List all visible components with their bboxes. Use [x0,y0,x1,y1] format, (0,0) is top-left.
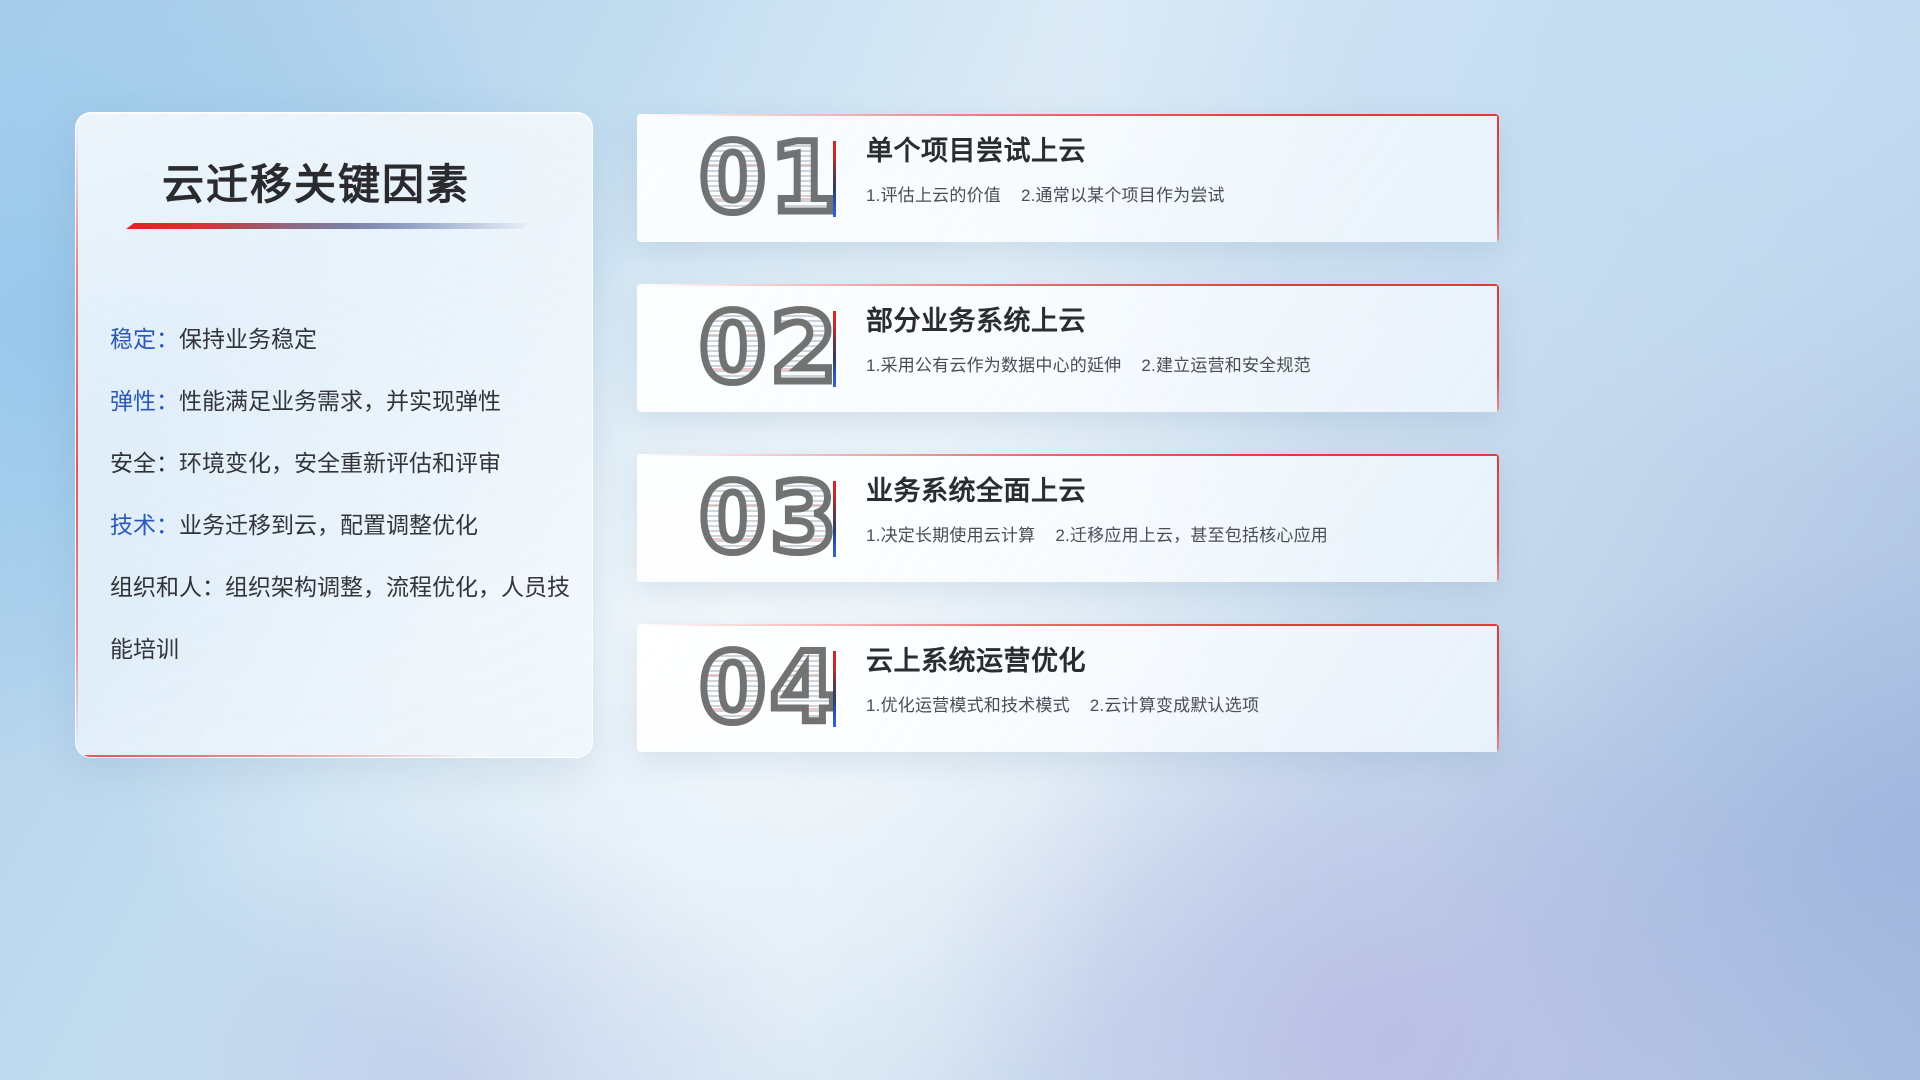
factor-label: 技术： [110,512,179,538]
stage-description-part-2: 2.通常以某个项目作为尝试 [1021,186,1225,205]
stage-card-body: 部分业务系统上云 1.采用公有云作为数据中心的延伸2.建立运营和安全规范 [866,306,1475,376]
stage-card-04[interactable]: 04 云上系统运营优化 1.优化运营模式和技术模式2.云计算变成默认选项 [637,624,1499,752]
stage-description-part-1: 1.评估上云的价值 [866,186,1001,205]
stage-card-body: 单个项目尝试上云 1.评估上云的价值2.通常以某个项目作为尝试 [866,136,1475,206]
list-item: 组织和人：组织架构调整，流程优化，人员技能培训 [110,556,580,680]
stage-card-body: 业务系统全面上云 1.决定长期使用云计算2.迁移应用上云，甚至包括核心应用 [866,476,1475,546]
stage-description-part-1: 1.采用公有云作为数据中心的延伸 [866,356,1121,375]
key-factors-panel: 云迁移关键因素 稳定：保持业务稳定 弹性：性能满足业务需求，并实现弹性 安全：环… [75,112,593,758]
slide-canvas: 云迁移关键因素 稳定：保持业务稳定 弹性：性能满足业务需求，并实现弹性 安全：环… [0,0,1920,1080]
stage-number-glyph: 03 [699,470,841,566]
stage-number-glyph: 01 [699,130,841,226]
stage-description-part-2: 2.建立运营和安全规范 [1141,356,1310,375]
factor-label: 弹性： [110,388,179,414]
stage-card-body: 云上系统运营优化 1.优化运营模式和技术模式2.云计算变成默认选项 [866,646,1475,716]
stage-description-part-1: 1.决定长期使用云计算 [866,526,1035,545]
stage-card-03[interactable]: 03 业务系统全面上云 1.决定长期使用云计算2.迁移应用上云，甚至包括核心应用 [637,454,1499,582]
stage-number-watermark: 01 [665,122,875,234]
stage-card-01[interactable]: 01 单个项目尝试上云 1.评估上云的价值2.通常以某个项目作为尝试 [637,114,1499,242]
stage-description: 1.评估上云的价值2.通常以某个项目作为尝试 [866,181,1475,206]
stage-divider-bar [833,651,836,727]
stage-description-part-2: 2.云计算变成默认选项 [1090,696,1259,715]
stage-description-part-1: 1.优化运营模式和技术模式 [866,696,1070,715]
list-item: 技术：业务迁移到云，配置调整优化 [110,494,580,556]
page-title: 云迁移关键因素 [162,151,470,212]
stage-description-part-2: 2.迁移应用上云，甚至包括核心应用 [1055,526,1328,545]
stage-description: 1.优化运营模式和技术模式2.云计算变成默认选项 [866,691,1475,716]
factor-text: 业务迁移到云，配置调整优化 [179,512,478,538]
list-item: 安全：环境变化，安全重新评估和评审 [110,432,580,494]
factor-list: 稳定：保持业务稳定 弹性：性能满足业务需求，并实现弹性 安全：环境变化，安全重新… [110,308,580,680]
stage-divider-bar [833,141,836,217]
factor-label: 稳定： [110,326,179,352]
stage-description: 1.决定长期使用云计算2.迁移应用上云，甚至包括核心应用 [866,521,1475,546]
stage-title: 云上系统运营优化 [866,646,1475,677]
list-item: 稳定：保持业务稳定 [110,308,580,370]
factor-label: 安全： [110,450,179,476]
stage-title: 部分业务系统上云 [866,306,1475,337]
stage-title: 单个项目尝试上云 [866,136,1475,167]
factor-text: 性能满足业务需求，并实现弹性 [179,388,501,414]
stage-number-watermark: 02 [665,292,875,404]
stage-number-glyph: 02 [699,300,841,396]
stage-divider-bar [833,311,836,387]
stage-card-list: 01 单个项目尝试上云 1.评估上云的价值2.通常以某个项目作为尝试 02 部分… [637,114,1845,794]
stage-card-02[interactable]: 02 部分业务系统上云 1.采用公有云作为数据中心的延伸2.建立运营和安全规范 [637,284,1499,412]
stage-number-glyph: 04 [699,640,841,736]
stage-divider-bar [833,481,836,557]
title-underline-rule [126,223,530,229]
factor-label: 组织和人： [110,574,225,600]
stage-description: 1.采用公有云作为数据中心的延伸2.建立运营和安全规范 [866,351,1475,376]
factor-text: 保持业务稳定 [179,326,317,352]
factor-text: 环境变化，安全重新评估和评审 [179,450,501,476]
list-item: 弹性：性能满足业务需求，并实现弹性 [110,370,580,432]
stage-title: 业务系统全面上云 [866,476,1475,507]
stage-number-watermark: 04 [665,632,875,744]
stage-number-watermark: 03 [665,462,875,574]
